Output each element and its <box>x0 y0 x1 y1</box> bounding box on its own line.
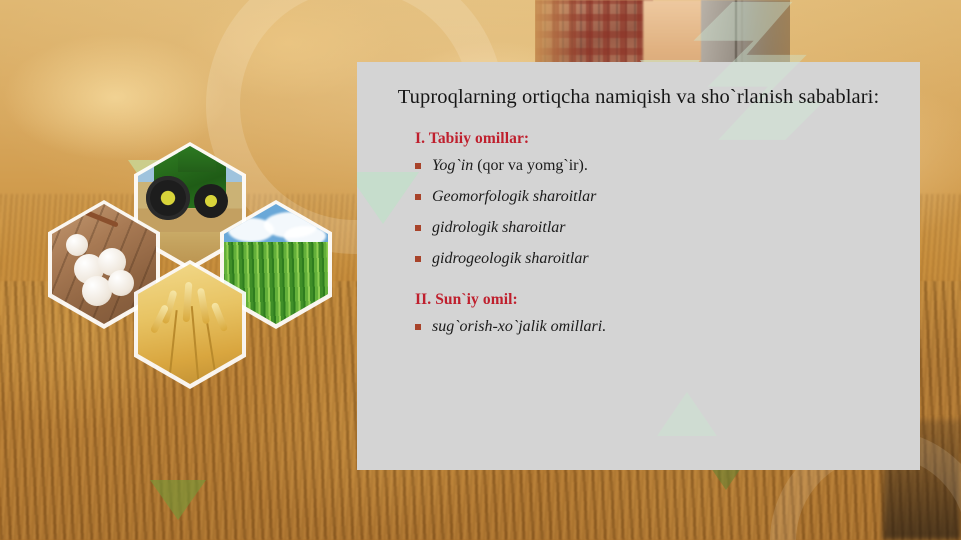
list-item: Yog`in (qor va yomg`ir). <box>415 156 920 176</box>
slide-title: Tuproqlarning ortiqcha namiqish va sho`r… <box>357 62 920 112</box>
hexagon-image-cluster <box>48 152 340 424</box>
wheat-stem <box>168 310 177 380</box>
wheat-stem <box>191 306 199 380</box>
slide-body: I. Tabiiy omillar: Yog`in (qor va yomg`i… <box>357 112 920 337</box>
section-heading-natural-factors: I. Tabiiy omillar: <box>415 130 920 148</box>
slide: Tuproqlarning ortiqcha namiqish va sho`r… <box>0 0 961 540</box>
bullet-list-natural-factors: Yog`in (qor va yomg`ir). Geomorfologik s… <box>415 156 920 269</box>
list-item-italic-text: Yog`in <box>432 157 473 174</box>
list-item-italic-text: gidrogeologik sharoitlar <box>432 250 589 267</box>
cotton-boll <box>66 234 88 256</box>
list-item-italic-text: sug`orish-xo`jalik omillari. <box>432 318 606 335</box>
wheat-ear <box>211 302 229 332</box>
wheat-stem <box>205 316 217 378</box>
section-heading-artificial-factor: II. Sun`iy omil: <box>415 291 920 309</box>
list-item-plain-text: (qor va yomg`ir). <box>473 157 588 174</box>
wheat-ear <box>197 288 210 325</box>
list-item: Geomorfologik sharoitlar <box>415 187 920 207</box>
tractor-rear-wheel <box>146 176 190 220</box>
list-item: gidrogeologik sharoitlar <box>415 249 920 269</box>
bullet-list-artificial-factor: sug`orish-xo`jalik omillari. <box>415 317 920 337</box>
list-item: sug`orish-xo`jalik omillari. <box>415 317 920 337</box>
list-item-italic-text: Geomorfologik sharoitlar <box>432 188 596 205</box>
list-item-italic-text: gidrologik sharoitlar <box>432 219 566 236</box>
cotton-boll <box>108 270 134 296</box>
content-panel: Tuproqlarning ortiqcha namiqish va sho`r… <box>357 62 920 470</box>
list-item: gidrologik sharoitlar <box>415 218 920 238</box>
tractor-front-wheel <box>194 184 228 218</box>
panel-watermark-diamond-icon <box>657 392 717 436</box>
